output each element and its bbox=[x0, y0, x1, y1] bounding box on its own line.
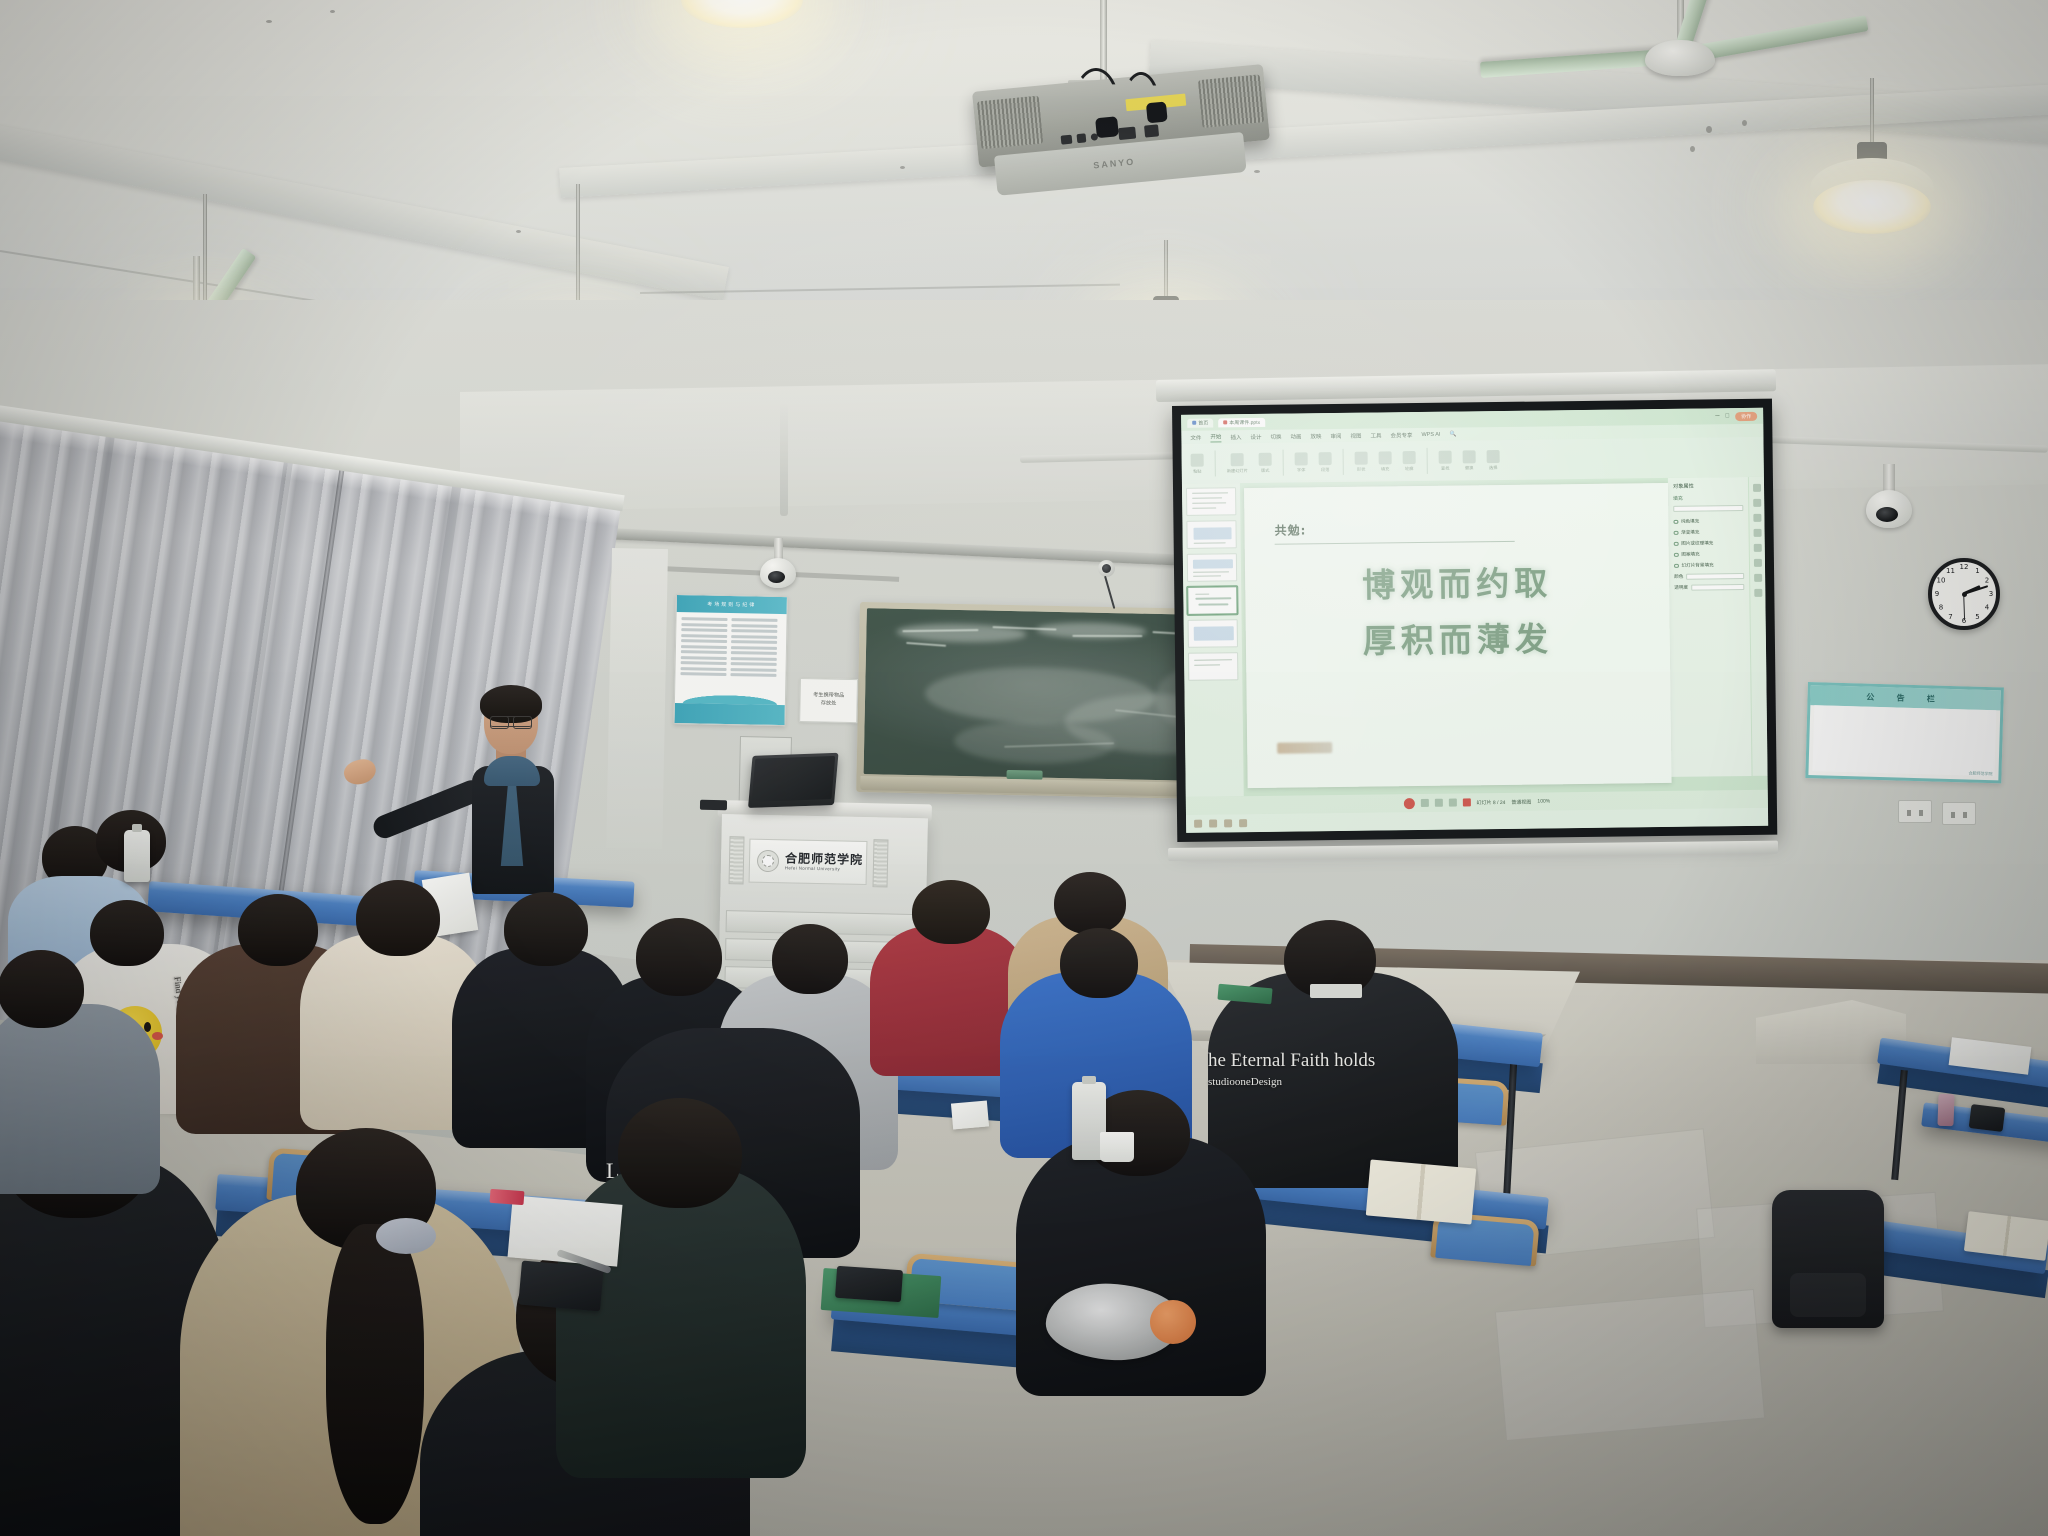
clock-numeral: 8 bbox=[1936, 603, 1946, 613]
fill-icon bbox=[1379, 451, 1392, 464]
wall-outlet[interactable] bbox=[1942, 802, 1976, 825]
open-notebook bbox=[1366, 1159, 1476, 1224]
exam-rules-poster: 考场规则与纪律 bbox=[674, 594, 788, 726]
tissue bbox=[951, 1100, 989, 1129]
color-field-label: 颜色 bbox=[1674, 574, 1683, 580]
window-controls[interactable]: ─ □ 协作 bbox=[1715, 411, 1757, 421]
ribbon-button[interactable]: 段落 bbox=[1319, 452, 1332, 473]
slide-page-indicator: 幻灯片 8 / 24 bbox=[1476, 798, 1505, 805]
paste-icon bbox=[1191, 453, 1204, 466]
slide-thumbnail-panel[interactable] bbox=[1182, 483, 1244, 797]
right-toolbar-rail[interactable] bbox=[1749, 477, 1768, 776]
menu-item[interactable]: WPS AI bbox=[1422, 431, 1441, 437]
design-icon[interactable] bbox=[1752, 484, 1760, 492]
clock-numeral: 3 bbox=[1986, 589, 1996, 599]
slide-divider bbox=[1275, 541, 1515, 545]
wall-clock: 12 1 2 3 4 5 6 7 8 9 10 11 bbox=[1928, 558, 2000, 630]
taskbar-app-icon[interactable] bbox=[1194, 820, 1202, 828]
slide-thumbnail[interactable] bbox=[1187, 553, 1237, 582]
wall-pillar bbox=[606, 548, 668, 849]
projected-presentation-app: 首页 本周课件.pptx ─ □ 协作 文件 开始 bbox=[1181, 408, 1768, 833]
properties-section: 填充 bbox=[1673, 494, 1743, 502]
camera-stem bbox=[774, 538, 783, 560]
cloud-icon[interactable] bbox=[1754, 589, 1762, 597]
university-seal-icon bbox=[757, 850, 779, 872]
fill-option-label: 渐变填充 bbox=[1681, 530, 1699, 536]
fill-option-label: 图片或纹理填充 bbox=[1681, 540, 1713, 546]
animation-icon[interactable] bbox=[1754, 574, 1762, 582]
menu-item[interactable]: 放映 bbox=[1310, 432, 1321, 440]
eraser bbox=[490, 1189, 525, 1205]
jacket-collar-tag bbox=[1310, 984, 1362, 998]
fill-option-row[interactable]: 纯色填充 bbox=[1673, 518, 1743, 525]
poster-footer bbox=[675, 703, 785, 725]
slide-headline-1: 博观而约取 bbox=[1245, 555, 1670, 608]
color-field-input[interactable] bbox=[1686, 573, 1744, 580]
media-icon[interactable] bbox=[1753, 499, 1761, 507]
notice-board: 公 告 栏 合肥师范学院 bbox=[1805, 682, 2004, 783]
light-wire bbox=[203, 194, 207, 312]
fill-option-row[interactable]: 渐变填充 bbox=[1674, 529, 1744, 536]
taskbar-app-icon[interactable] bbox=[1239, 819, 1247, 827]
transparency-slider[interactable] bbox=[1691, 584, 1744, 591]
menu-item[interactable]: 设计 bbox=[1250, 432, 1261, 440]
slide-headline-2: 厚积而薄发 bbox=[1246, 611, 1671, 664]
chart-icon[interactable] bbox=[1753, 529, 1761, 537]
clock-numeral: 2 bbox=[1982, 576, 1992, 586]
tab-home[interactable]: 首页 bbox=[1187, 418, 1213, 427]
clock-center-pin bbox=[1962, 592, 1967, 597]
ceiling-speck bbox=[266, 20, 272, 23]
classroom-scene: 考场规则与纪律 考生携带物品 存放处 bbox=[0, 0, 2048, 1536]
radio-icon[interactable] bbox=[1674, 531, 1679, 536]
fill-option-row[interactable]: 幻灯片背景填充 bbox=[1674, 562, 1744, 569]
clock-numeral: 11 bbox=[1946, 566, 1956, 576]
clock-numeral: 1 bbox=[1973, 566, 1983, 576]
ceiling-projector: SANYO bbox=[972, 78, 1264, 196]
slide-thumbnail-selected[interactable] bbox=[1187, 586, 1237, 615]
ceiling-speck bbox=[1742, 120, 1747, 126]
menu-item[interactable]: 切换 bbox=[1270, 432, 1281, 440]
tab-file[interactable]: 本周课件.pptx bbox=[1218, 417, 1265, 427]
ceiling-speck bbox=[1690, 146, 1695, 152]
institution-plaque: 合肥师范学院 Hefei Normal University bbox=[749, 839, 868, 885]
slide-kicker-text: 共勉: bbox=[1274, 521, 1306, 538]
ribbon-button[interactable]: 查找 bbox=[1439, 450, 1452, 471]
shape-tool-icon[interactable] bbox=[1753, 514, 1761, 522]
storage-sign: 考生携带物品 存放处 bbox=[799, 678, 858, 723]
projection-screen: 首页 本周课件.pptx ─ □ 协作 文件 开始 bbox=[1172, 399, 1777, 842]
tab-file-label: 本周课件.pptx bbox=[1229, 418, 1260, 425]
wps-logo-icon bbox=[1403, 798, 1414, 809]
slide-thumbnail[interactable] bbox=[1186, 520, 1236, 549]
light-bulb bbox=[1813, 180, 1931, 234]
layout-icon bbox=[1259, 452, 1272, 465]
clock-numeral: 12 bbox=[1959, 562, 1969, 572]
wall-outlet[interactable] bbox=[1898, 800, 1932, 823]
lectern-vent bbox=[729, 836, 745, 884]
color-field-row[interactable]: 颜色 bbox=[1674, 573, 1744, 580]
zoom-level[interactable]: 100% bbox=[1537, 798, 1550, 804]
smartphone[interactable] bbox=[1937, 1094, 1954, 1127]
present-icon[interactable] bbox=[1462, 798, 1470, 806]
white-thermos bbox=[124, 830, 150, 882]
podium-remote[interactable] bbox=[700, 800, 727, 810]
slide-canvas[interactable]: 共勉: 博观而约取 厚积而薄发 bbox=[1244, 483, 1672, 788]
paragraph-icon bbox=[1319, 452, 1332, 465]
clock-numeral: 4 bbox=[1982, 603, 1992, 613]
text-tool-icon[interactable] bbox=[1753, 544, 1761, 552]
menu-item[interactable]: 视图 bbox=[1350, 431, 1361, 439]
menu-item[interactable]: 工具 bbox=[1370, 431, 1381, 439]
ribbon-button[interactable]: 轮廓 bbox=[1403, 451, 1416, 472]
ppt-file-icon bbox=[1223, 420, 1227, 424]
ceiling-speck bbox=[900, 166, 905, 169]
ceiling-speck bbox=[516, 230, 521, 233]
clock-numeral: 5 bbox=[1973, 612, 1983, 622]
menu-item[interactable]: 动画 bbox=[1290, 432, 1301, 440]
orange-fruit bbox=[1150, 1300, 1196, 1344]
radio-icon[interactable] bbox=[1674, 542, 1679, 547]
ceiling-speck bbox=[1706, 126, 1712, 133]
black-backpack bbox=[1772, 1190, 1884, 1328]
view-mode-label[interactable]: 普通视图 bbox=[1511, 798, 1531, 805]
light-wire bbox=[1870, 78, 1874, 150]
ribbon-button[interactable]: 填充 bbox=[1379, 451, 1392, 472]
taskbar-app-icon[interactable] bbox=[1209, 819, 1217, 827]
security-camera bbox=[1866, 490, 1912, 528]
ceiling-speck bbox=[330, 10, 335, 13]
menu-item[interactable]: 插入 bbox=[1230, 433, 1241, 441]
poster-rows bbox=[675, 612, 786, 682]
replace-icon bbox=[1463, 450, 1476, 463]
tablet[interactable] bbox=[1969, 1104, 2006, 1132]
poster-title: 考场规则与纪律 bbox=[677, 595, 787, 614]
fan-hub bbox=[1645, 40, 1715, 76]
fill-option-label: 图案填充 bbox=[1681, 552, 1699, 558]
slide-thumbnail[interactable] bbox=[1186, 487, 1236, 516]
light-wire bbox=[1164, 240, 1168, 304]
font-icon bbox=[1295, 452, 1308, 465]
object-properties-panel[interactable]: 对象属性 填充 纯色填充 渐变填充 图片或纹理填充 bbox=[1668, 477, 1752, 777]
security-camera bbox=[760, 558, 796, 588]
projector-brand-label: SANYO bbox=[1093, 157, 1136, 171]
shape-icon bbox=[1355, 451, 1368, 464]
podium-monitor bbox=[748, 753, 839, 808]
notice-board-footer: 合肥师范学院 bbox=[1968, 771, 1992, 778]
slide-thumbnail[interactable] bbox=[1188, 619, 1238, 648]
smartphone[interactable] bbox=[835, 1266, 903, 1303]
hair-scrunchie bbox=[376, 1218, 436, 1254]
ribbon-button[interactable]: 形状 bbox=[1355, 451, 1368, 472]
select-icon bbox=[1487, 450, 1500, 463]
maximize-icon[interactable]: □ bbox=[1725, 413, 1729, 419]
smartphone[interactable] bbox=[518, 1261, 604, 1312]
ribbon-button[interactable]: 新建幻灯片 bbox=[1227, 453, 1248, 474]
ribbon-button[interactable]: 选择 bbox=[1487, 450, 1500, 471]
fill-option-row[interactable]: 图片或纹理填充 bbox=[1674, 540, 1744, 547]
taskbar-app-icon[interactable] bbox=[1224, 819, 1232, 827]
ribbon-button[interactable]: 粘贴 bbox=[1191, 453, 1204, 474]
find-icon bbox=[1439, 450, 1452, 463]
storage-sign-line2: 存放处 bbox=[821, 700, 837, 708]
properties-field[interactable] bbox=[1673, 505, 1743, 512]
ribbon-button[interactable]: 版式 bbox=[1259, 452, 1272, 473]
camera-stem bbox=[1883, 464, 1895, 492]
properties-title: 对象属性 bbox=[1673, 482, 1743, 490]
menu-item[interactable]: 开始 bbox=[1210, 432, 1221, 442]
menu-item[interactable]: 会员专享 bbox=[1390, 431, 1412, 439]
radio-icon[interactable] bbox=[1674, 553, 1679, 558]
fill-option-label: 幻灯片背景填充 bbox=[1681, 562, 1713, 568]
camera-lens-icon bbox=[768, 571, 785, 583]
notice-board-body bbox=[1813, 705, 1997, 776]
minimize-icon[interactable]: ─ bbox=[1715, 413, 1719, 419]
transparency-field-label: 透明度 bbox=[1674, 585, 1688, 591]
menu-item[interactable]: 审阅 bbox=[1330, 431, 1341, 439]
lectern-vent bbox=[873, 839, 889, 887]
tab-home-label: 首页 bbox=[1198, 419, 1208, 426]
share-button[interactable]: 协作 bbox=[1735, 411, 1757, 420]
home-icon bbox=[1192, 421, 1196, 425]
floor-tile bbox=[1495, 1289, 1765, 1441]
app-ribbon[interactable]: 粘贴 新建幻灯片 版式 字体 bbox=[1181, 437, 1763, 484]
search-icon[interactable]: 🔍 bbox=[1449, 431, 1456, 437]
glasses-icon bbox=[490, 716, 532, 727]
ribbon-button[interactable]: 替换 bbox=[1463, 450, 1476, 471]
statusbar-chip[interactable] bbox=[1434, 799, 1442, 807]
transparency-field-row[interactable]: 透明度 bbox=[1674, 584, 1744, 591]
clock-numeral: 10 bbox=[1936, 576, 1946, 586]
radio-icon[interactable] bbox=[1674, 564, 1679, 569]
ceiling-microphone bbox=[1098, 560, 1115, 577]
ribbon-button[interactable]: 字体 bbox=[1295, 452, 1308, 473]
clock-numeral: 9 bbox=[1932, 589, 1942, 599]
camera-lens-icon bbox=[1876, 507, 1898, 522]
screen-surface: 首页 本周课件.pptx ─ □ 协作 文件 开始 bbox=[1181, 408, 1768, 833]
slide-thumbnail[interactable] bbox=[1188, 652, 1238, 681]
statusbar-chip[interactable] bbox=[1420, 799, 1428, 807]
white-cup bbox=[1100, 1132, 1134, 1162]
clock-numeral: 7 bbox=[1946, 612, 1956, 622]
outline-icon bbox=[1403, 451, 1416, 464]
fill-option-row[interactable]: 图案填充 bbox=[1674, 551, 1744, 558]
wall-conduit bbox=[780, 404, 788, 516]
fill-option-label: 纯色填充 bbox=[1681, 519, 1699, 525]
table-icon[interactable] bbox=[1753, 559, 1761, 567]
new-slide-icon bbox=[1231, 453, 1244, 466]
statusbar-chip[interactable] bbox=[1448, 799, 1456, 807]
radio-icon[interactable] bbox=[1673, 520, 1678, 525]
slide-decoration bbox=[1277, 742, 1332, 754]
menu-item[interactable]: 文件 bbox=[1190, 433, 1201, 441]
